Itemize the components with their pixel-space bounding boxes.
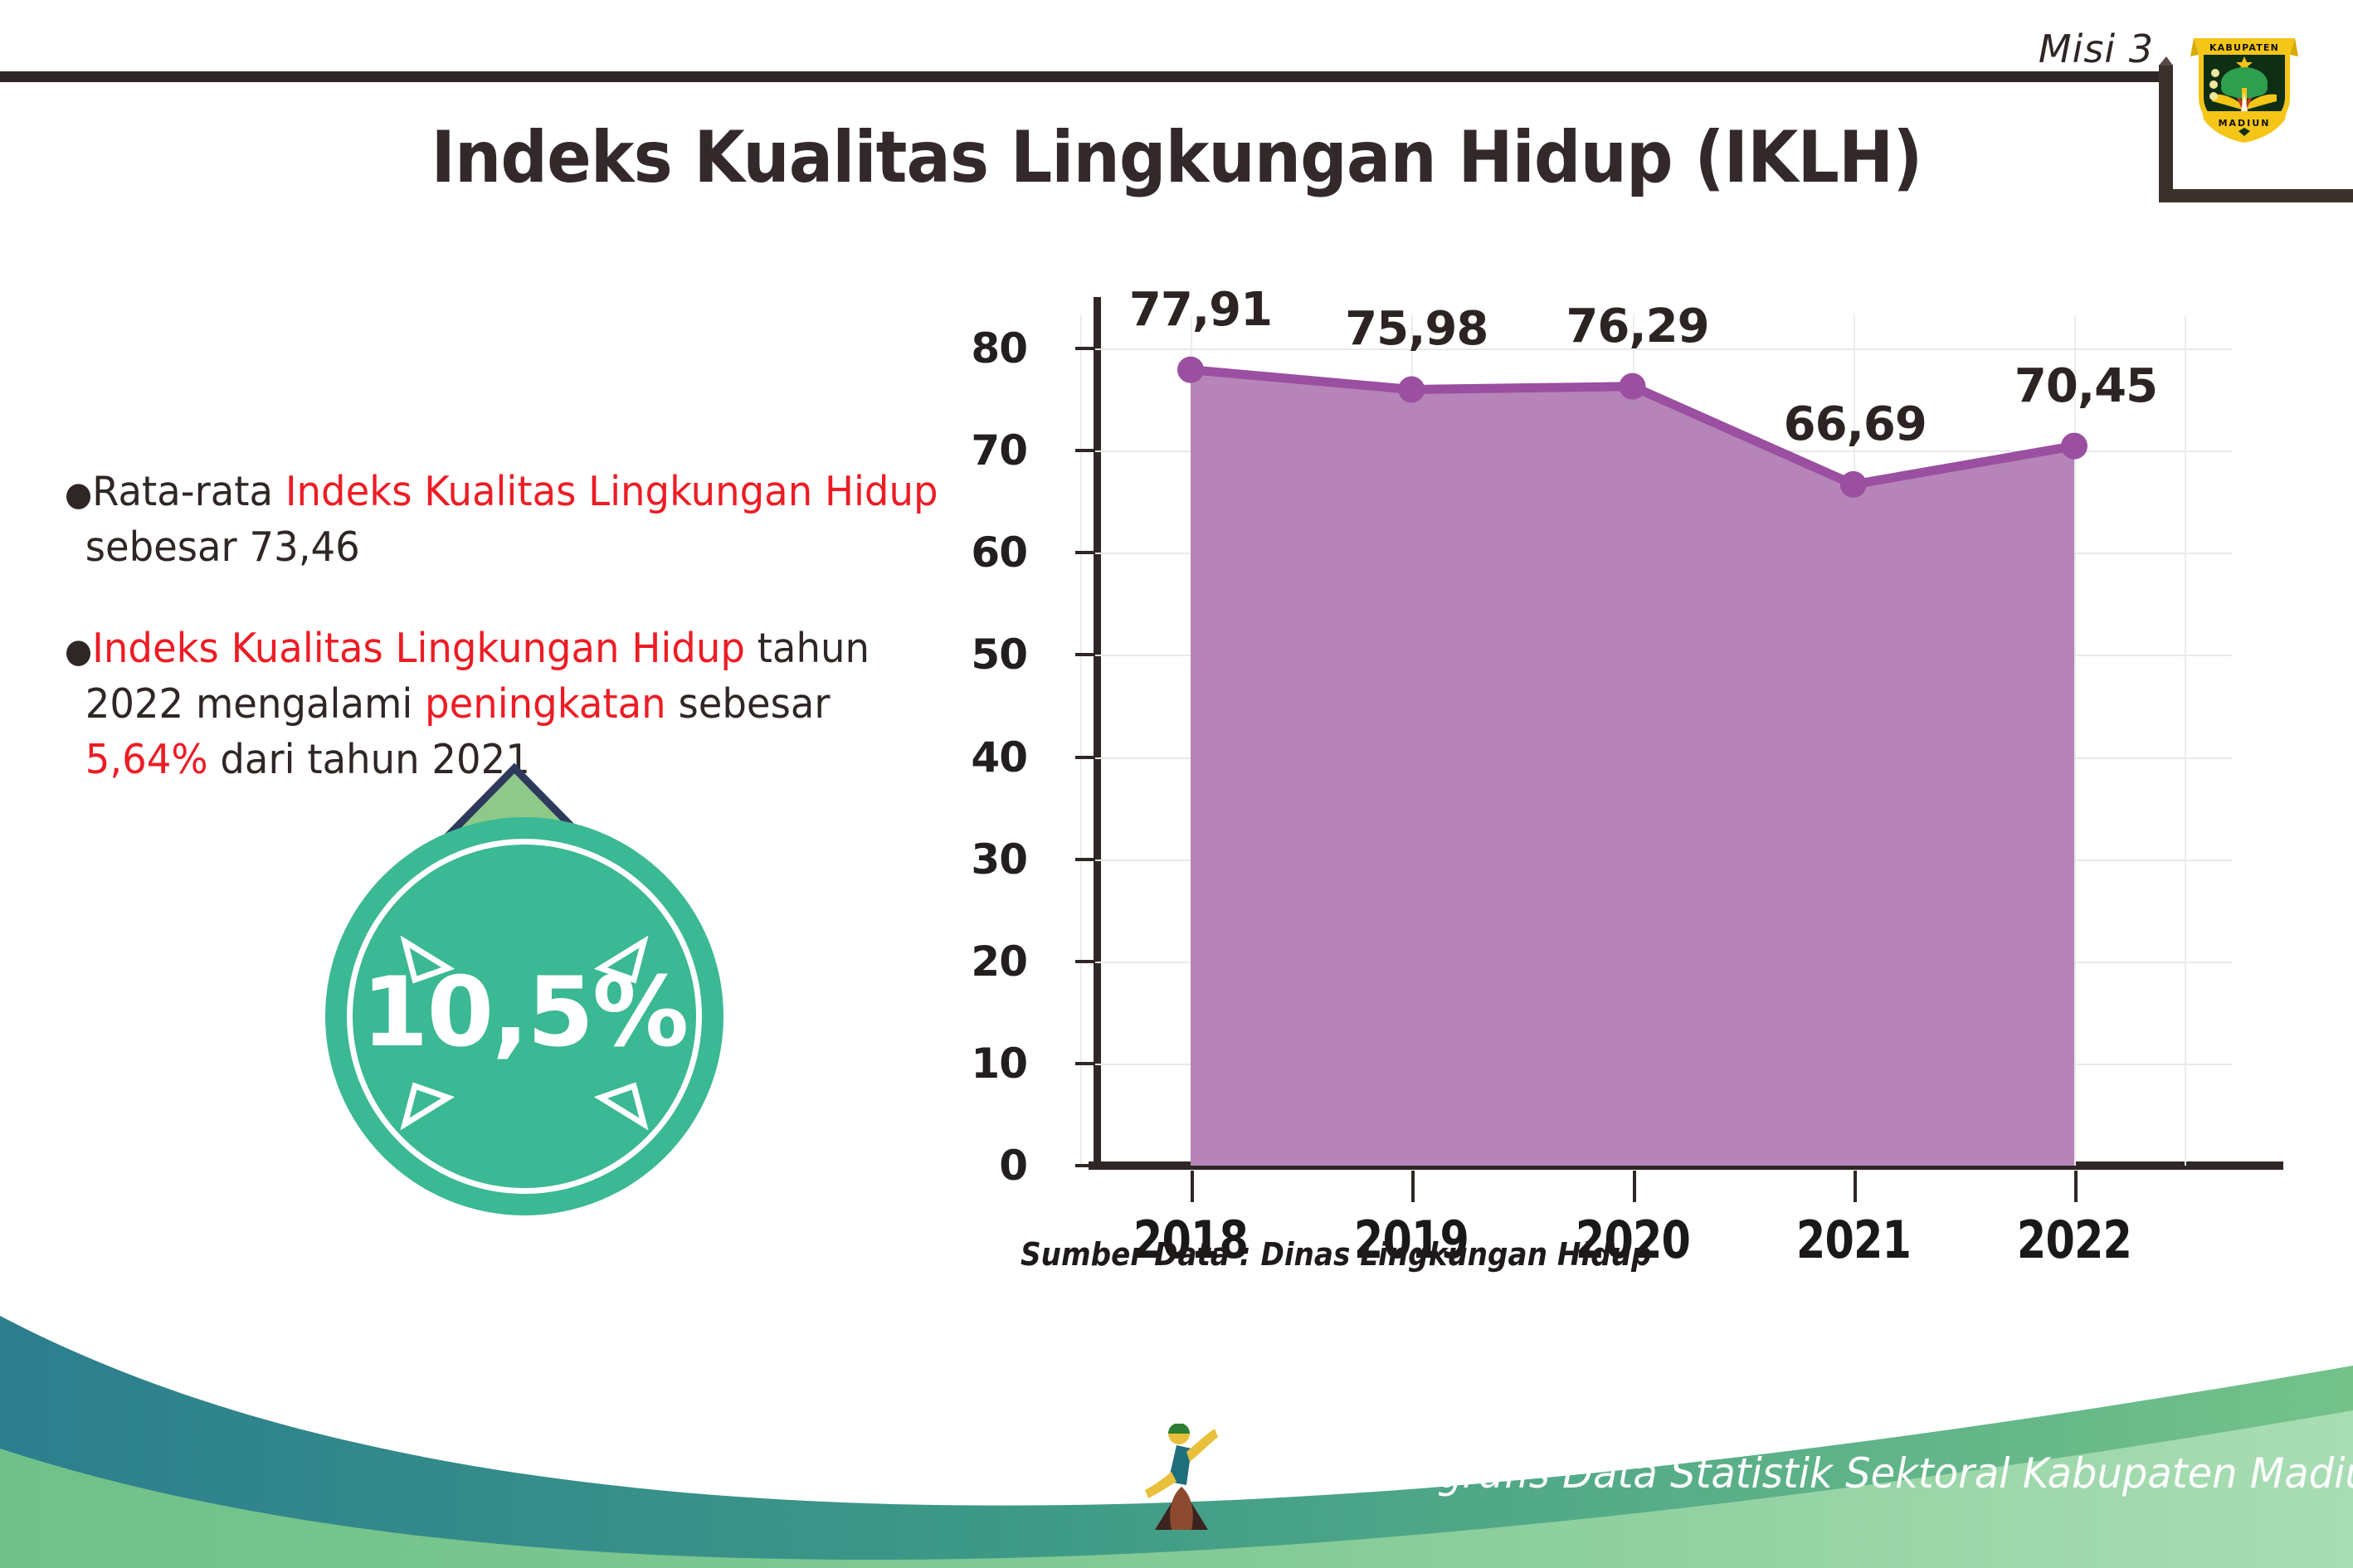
bullet-dot-icon: ● bbox=[65, 475, 92, 514]
series-marker bbox=[1620, 373, 1646, 400]
bullet-1-part-2: peningkatan bbox=[425, 680, 666, 728]
data-value-label: 66,69 bbox=[1784, 397, 1927, 451]
source-note: Sumber Data : Dinas Lingkungan Hidup bbox=[1021, 1236, 1652, 1273]
y-axis-tick-label: 10 bbox=[971, 1040, 1027, 1088]
y-axis-tick-label: 70 bbox=[971, 426, 1027, 475]
series-marker bbox=[1398, 376, 1425, 402]
badge-value-text: 10,5% bbox=[325, 957, 723, 1069]
mission-label: Misi 3 bbox=[2039, 27, 2154, 71]
x-axis-tick-label: 2021 bbox=[1796, 1210, 1911, 1270]
chart-plot-area: 01020304050607080 20182019202020212022 7… bbox=[1095, 315, 2232, 1166]
gridline-vertical bbox=[1080, 315, 1082, 1166]
bullet-item-average: ●Rata-rata Indeks Kualitas Lingkungan Hi… bbox=[65, 465, 940, 575]
page-title: Indeks Kualitas Lingkungan Hidup (IKLH) bbox=[94, 116, 2258, 199]
x-axis-tick-mark bbox=[1191, 1171, 1194, 1202]
data-value-label: 77,91 bbox=[1129, 283, 1272, 337]
bullet-1-part-4: 5,64% bbox=[85, 736, 208, 783]
bullet-0-part-2: sebesar 73,46 bbox=[85, 523, 360, 571]
x-axis-tick-mark bbox=[2074, 1171, 2078, 1202]
bullet-dot-icon: ● bbox=[65, 632, 92, 670]
y-axis-tick-label: 60 bbox=[971, 528, 1027, 577]
y-axis-tick-mark bbox=[1075, 1062, 1094, 1065]
y-axis-tick-mark bbox=[1075, 551, 1094, 554]
y-axis-tick-label: 30 bbox=[971, 835, 1027, 884]
bullet-0-part-1: Indeks Kualitas Lingkungan Hidup bbox=[285, 468, 938, 515]
y-axis-tick-label: 0 bbox=[999, 1142, 1027, 1190]
series-marker bbox=[1177, 357, 1204, 383]
series-marker bbox=[2061, 433, 2087, 460]
infografis-figure-icon bbox=[1143, 1424, 1220, 1533]
area-fill bbox=[1191, 370, 2074, 1166]
series-marker bbox=[1840, 471, 1867, 498]
increase-badge: 10,5% bbox=[325, 817, 723, 1215]
bullet-1-part-3: sebesar bbox=[666, 680, 831, 728]
chart-series-area bbox=[1095, 315, 2232, 1166]
y-axis-tick-label: 20 bbox=[971, 937, 1027, 986]
data-value-label: 76,29 bbox=[1566, 299, 1708, 353]
y-axis-tick-mark bbox=[1075, 756, 1094, 759]
bullet-0-part-0: Rata-rata bbox=[92, 468, 285, 515]
header-divider-rule bbox=[0, 71, 2169, 82]
iklh-area-chart: 01020304050607080 20182019202020212022 7… bbox=[987, 295, 2282, 1224]
y-axis-tick-mark bbox=[1075, 347, 1094, 350]
x-axis-tick-label: 2022 bbox=[2017, 1210, 2131, 1270]
y-axis-tick-label: 50 bbox=[971, 631, 1027, 679]
y-axis-tick-mark bbox=[1075, 449, 1094, 452]
bullet-1-part-0: Indeks Kualitas Lingkungan Hidup bbox=[92, 625, 745, 672]
footer-banner: Media Infografis Data Statistik Sektoral… bbox=[0, 1286, 2353, 1568]
y-axis-tick-mark bbox=[1075, 858, 1094, 861]
y-axis-tick-mark bbox=[1075, 653, 1094, 656]
x-axis-tick-mark bbox=[1633, 1171, 1636, 1202]
data-value-label: 70,45 bbox=[2014, 359, 2157, 413]
footer-text: Media Infografis Data Statistik Sektoral… bbox=[1230, 1449, 2353, 1497]
svg-text:KABUPATEN: KABUPATEN bbox=[2209, 42, 2279, 53]
y-axis-tick-mark bbox=[1075, 960, 1094, 963]
y-axis-tick-label: 40 bbox=[971, 733, 1027, 782]
x-axis-tick-mark bbox=[1854, 1171, 1857, 1202]
y-axis-tick-mark bbox=[1075, 1164, 1094, 1167]
y-axis-tick-label: 80 bbox=[971, 324, 1027, 373]
data-value-label: 75,98 bbox=[1345, 302, 1488, 356]
x-axis-tick-mark bbox=[1411, 1171, 1415, 1202]
